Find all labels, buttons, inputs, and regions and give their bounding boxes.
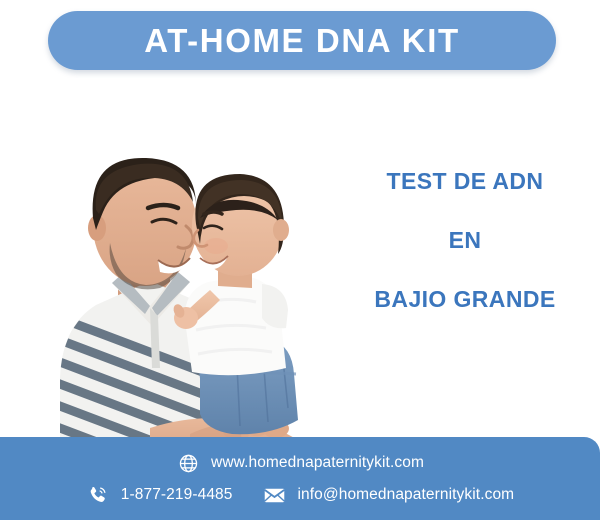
poster-root: AT-HOME DNA KIT	[0, 0, 600, 520]
globe-icon	[176, 451, 200, 475]
headline-line-1: TEST DE ADN	[330, 170, 600, 193]
website-item[interactable]: www.homednapaternitykit.com	[176, 451, 424, 475]
email-item[interactable]: info@homednapaternitykit.com	[263, 483, 515, 507]
phone-icon	[86, 483, 110, 507]
father-holding-toddler-photo	[0, 78, 330, 458]
footer-bar: www.homednapaternitykit.com 1-877-219-44…	[0, 437, 600, 520]
website-text: www.homednapaternitykit.com	[211, 455, 424, 471]
page-title: AT-HOME DNA KIT	[144, 24, 459, 57]
header-banner: AT-HOME DNA KIT	[48, 11, 556, 70]
phone-item[interactable]: 1-877-219-4485	[86, 483, 233, 507]
headline-line-2: EN	[330, 229, 600, 252]
headline-block: TEST DE ADN EN BAJIO GRANDE	[330, 150, 600, 311]
headline-line-3: BAJIO GRANDE	[330, 288, 600, 311]
phone-text: 1-877-219-4485	[121, 487, 233, 503]
photo-illustration	[0, 78, 330, 458]
envelope-icon	[263, 483, 287, 507]
footer-contact-row: 1-877-219-4485 info@homednapaternitykit.…	[0, 483, 600, 507]
footer-website-row: www.homednapaternitykit.com	[0, 451, 600, 475]
email-text: info@homednapaternitykit.com	[298, 487, 515, 503]
